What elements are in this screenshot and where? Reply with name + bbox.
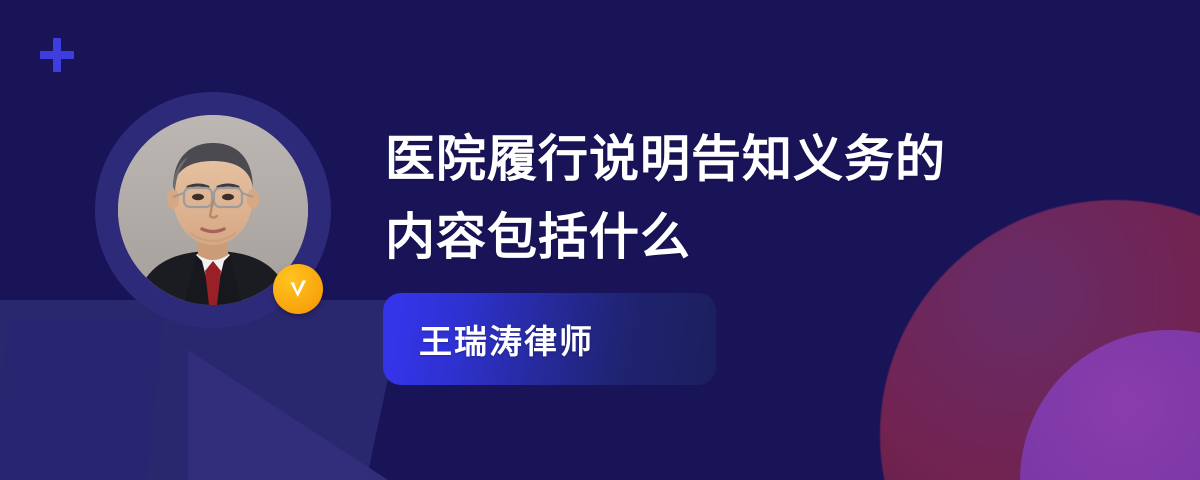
triangle-wedge-shape xyxy=(188,350,388,480)
author-name-label: 王瑞涛律师 xyxy=(383,315,594,363)
headline-block: 医院履行说明告知义务的 内容包括什么 xyxy=(385,120,1125,276)
avatar[interactable] xyxy=(95,92,331,328)
corner-block-shape xyxy=(0,320,163,480)
plus-icon xyxy=(40,38,74,72)
verified-badge xyxy=(273,264,323,314)
article-cover-banner: 医院履行说明告知义务的 内容包括什么 王瑞涛律师 xyxy=(0,0,1200,480)
author-name-badge[interactable]: 王瑞涛律师 xyxy=(383,293,716,385)
check-v-icon xyxy=(283,274,313,304)
page-title: 医院履行说明告知义务的 内容包括什么 xyxy=(385,120,1125,276)
gradient-circle-inner xyxy=(1020,330,1200,480)
